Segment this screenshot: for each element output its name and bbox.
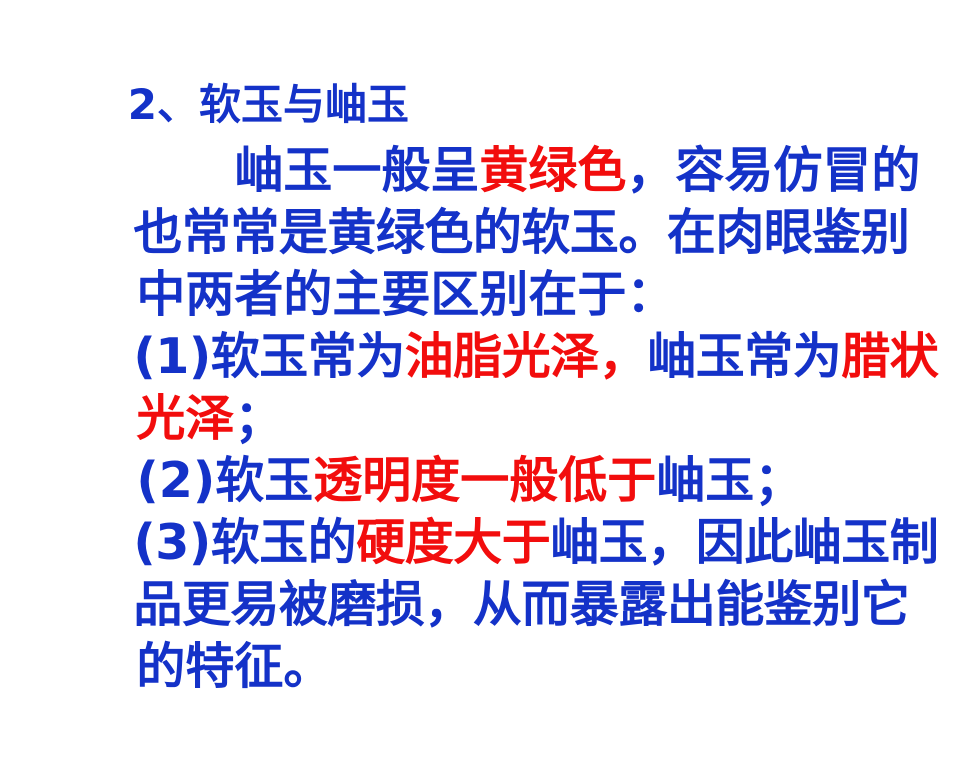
point-1-line-2-part-b: ；: [234, 390, 283, 447]
point-3-emphasis: 硬度大于: [356, 514, 550, 571]
point-3-marker: (3): [133, 514, 210, 571]
intro-line-1-emphasis: 黄绿色: [479, 142, 626, 199]
slide-canvas: 2、软玉与岫玉 岫玉一般呈黄绿色，容易仿冒的 也常常是黄绿色的软玉。在肉眼鉴别 …: [0, 0, 960, 720]
intro-line-3-text: 中两者的主要区别在于：: [136, 266, 675, 323]
point-3-line-3-text: 的特征。: [136, 638, 332, 695]
intro-line-1-part-a: 岫玉一般呈: [136, 142, 479, 199]
point-2-part-b: 岫玉；: [656, 452, 803, 509]
point-1-emphasis-1: 油脂光泽，: [405, 328, 648, 385]
heading-text: 2、软玉与岫玉: [128, 80, 409, 129]
point-2-part-a: 软玉: [215, 452, 313, 509]
point-3-part-a: 软玉的: [211, 514, 357, 571]
point-1-marker: (1): [133, 328, 210, 385]
slide-text-body: 2、软玉与岫玉 岫玉一般呈黄绿色，容易仿冒的 也常常是黄绿色的软玉。在肉眼鉴别 …: [34, 24, 934, 636]
point-1-emphasis-3: 光泽: [136, 390, 234, 447]
point-1-part-b: 岫玉常为: [647, 328, 841, 385]
point-2-emphasis: 透明度一般低于: [313, 452, 656, 509]
point-1-emphasis-2: 腊状: [841, 328, 938, 385]
point-2-marker: (2): [136, 452, 215, 509]
intro-line-2-text: 也常常是黄绿色的软玉。在肉眼鉴别: [133, 204, 909, 261]
heading-line: 2、软玉与岫玉: [34, 24, 934, 78]
point-1-part-a: 软玉常为: [211, 328, 405, 385]
point-3-line-2-text: 品更易被磨损，从而暴露出能鉴别它: [133, 576, 909, 633]
point-3-part-b: 岫玉，因此岫玉制: [550, 514, 938, 571]
intro-line-1-part-b: ，容易仿冒的: [626, 142, 920, 199]
